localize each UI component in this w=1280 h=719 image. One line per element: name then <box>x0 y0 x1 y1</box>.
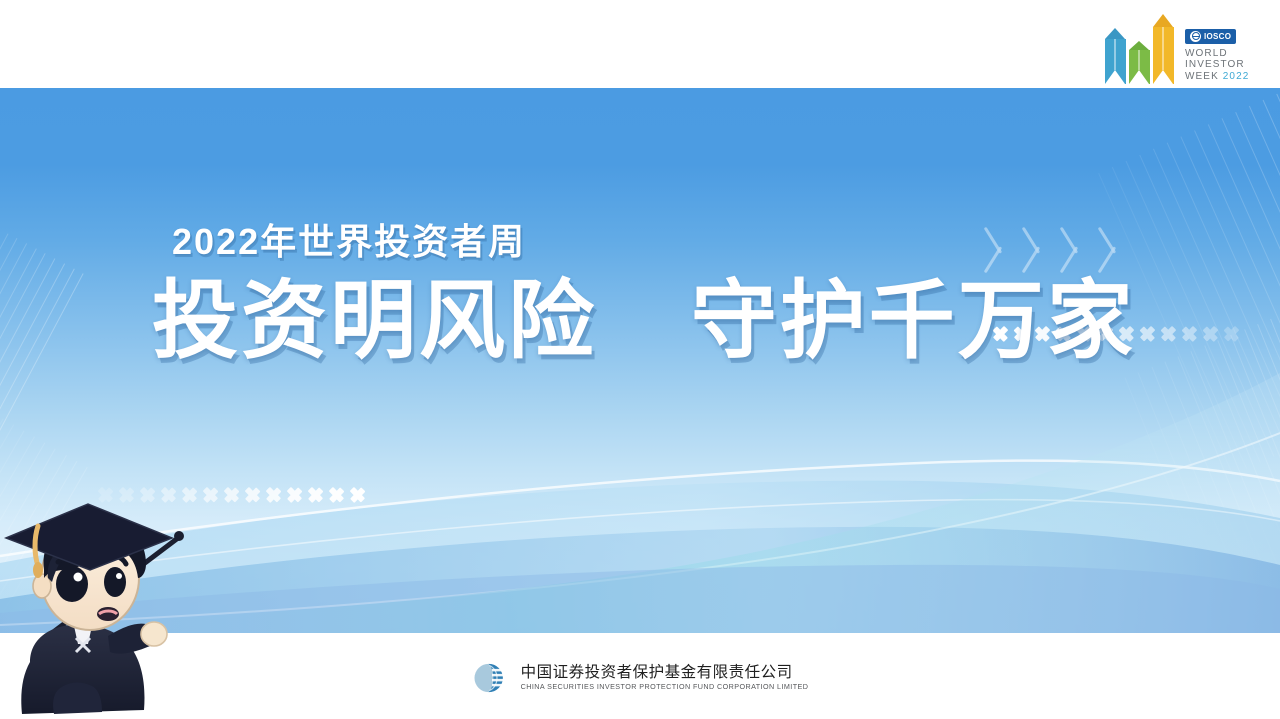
pencil-blue-icon <box>1105 28 1126 84</box>
wiw-line-week: WEEK 2022 <box>1185 71 1249 83</box>
sipf-name-block: 中国证券投资者保护基金有限责任公司 CHINA SECURITIES INVES… <box>521 664 809 692</box>
pencil-green-icon <box>1129 41 1150 84</box>
sipf-emblem-icon <box>472 658 512 698</box>
pencil-yellow-icon <box>1153 14 1174 84</box>
sipf-name-en: CHINA SECURITIES INVESTOR PROTECTION FUN… <box>521 682 809 692</box>
mascot-eye-left <box>56 566 88 602</box>
top-white-band: IOSCO WORLD INVESTOR WEEK 2022 <box>0 0 1280 88</box>
globe-icon <box>1190 31 1201 42</box>
banner-kicker: 2022年世界投资者周 <box>172 213 526 265</box>
pencil-icon-group <box>1098 12 1180 84</box>
wiw-year: 2022 <box>1223 71 1250 82</box>
slide-canvas: 2022年世界投资者周 投资明风险 守护千万家 <box>0 0 1280 719</box>
iosco-label: IOSCO <box>1204 32 1231 41</box>
headline-part-2: 守护千万家 <box>691 273 1136 369</box>
professor-mascot-illustration <box>0 486 206 719</box>
wiw-week-label: WEEK <box>1185 71 1219 82</box>
world-investor-week-logo: IOSCO WORLD INVESTOR WEEK 2022 <box>1098 6 1266 84</box>
wiw-logo-text-block: IOSCO WORLD INVESTOR WEEK 2022 <box>1185 29 1249 85</box>
mascot-eye-right <box>104 567 126 597</box>
headline-part-1: 投资明风险 <box>152 273 597 369</box>
sipf-name-cn: 中国证券投资者保护基金有限责任公司 <box>521 664 809 682</box>
banner-headline: 投资明风险 守护千万家 <box>152 278 1136 364</box>
graduation-cap-icon <box>6 504 172 578</box>
mascot-hand <box>141 622 167 646</box>
iosco-badge: IOSCO <box>1185 29 1236 44</box>
wiw-wordmark: WORLD INVESTOR WEEK 2022 <box>1185 48 1249 83</box>
wiw-line-investor: INVESTOR <box>1185 59 1249 71</box>
wiw-line-world: WORLD <box>1185 48 1249 60</box>
